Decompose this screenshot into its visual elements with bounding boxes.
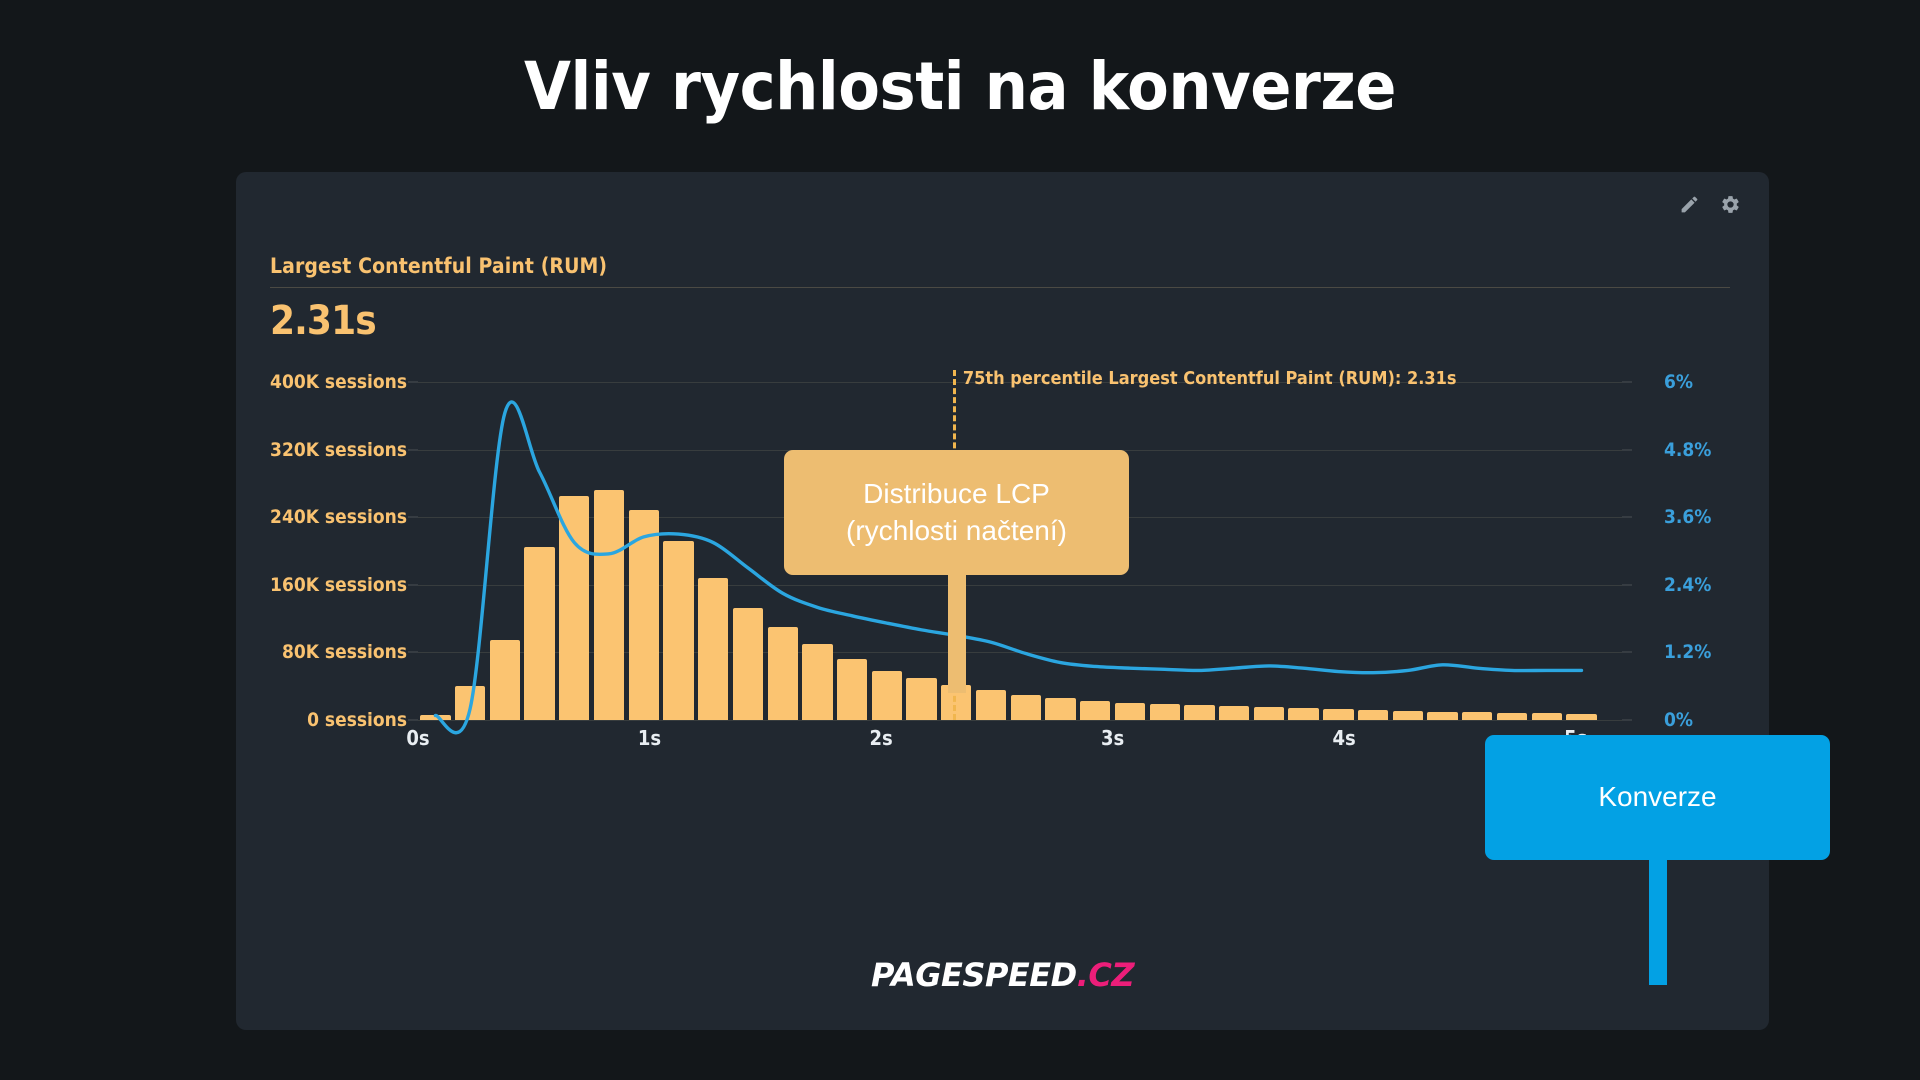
settings-gear-icon[interactable] (1720, 194, 1741, 215)
y-tick-mark-right (1622, 652, 1632, 653)
callout-konverze-box: Konverze (1485, 735, 1830, 860)
y-tick-label-left: 240K sessions (270, 506, 407, 528)
metric-card: Largest Contentful Paint (RUM) 2.31s 0 s… (236, 172, 1769, 1030)
gridline (418, 720, 1622, 721)
y-tick-mark-left (408, 517, 418, 518)
page-title: Vliv rychlosti na konverze (77, 48, 1843, 125)
callout-distribuce-lcp[interactable]: Distribuce LCP (rychlosti načtení) (784, 450, 1129, 575)
callout-konverze[interactable]: Konverze (1485, 735, 1830, 860)
screenshot-root: Vliv rychlosti na konverze Largest Conte… (0, 0, 1920, 1080)
y-tick-label-right: 6% (1664, 371, 1693, 393)
y-tick-label-left: 0 sessions (307, 709, 407, 731)
y-tick-mark-right (1622, 584, 1632, 585)
card-toolbar (1679, 194, 1741, 215)
callout-distribuce-lcp-box: Distribuce LCP (rychlosti načtení) (784, 450, 1129, 575)
y-tick-mark-left (408, 584, 418, 585)
callout-konverze-label: Konverze (1598, 779, 1716, 815)
logo-part-pagespeed: PAGESPEED (871, 956, 1077, 994)
y-tick-mark-left (408, 720, 418, 721)
metric-label: Largest Contentful Paint (RUM) (270, 254, 1730, 278)
pagespeed-logo: PAGESPEED.CZ (236, 956, 1769, 994)
callout-lcp-line1: Distribuce LCP (846, 476, 1067, 512)
y-tick-mark-left (408, 449, 418, 450)
y-tick-label-right: 4.8% (1664, 439, 1711, 461)
metric-value: 2.31s (270, 298, 1584, 344)
x-tick-label: 1s (638, 726, 661, 750)
y-tick-mark-right (1622, 449, 1632, 450)
x-tick-label: 2s (869, 726, 892, 750)
edit-pencil-icon[interactable] (1679, 194, 1700, 215)
y-tick-mark-right (1622, 382, 1632, 383)
metric-divider (270, 287, 1730, 288)
metric-header: Largest Contentful Paint (RUM) 2.31s (270, 254, 1730, 344)
y-tick-mark-right (1622, 517, 1632, 518)
y-tick-label-left: 320K sessions (270, 439, 407, 461)
y-tick-mark-left (408, 652, 418, 653)
x-tick-label: 4s (1333, 726, 1356, 750)
y-tick-mark-left (408, 382, 418, 383)
x-tick-label: 0s (406, 726, 429, 750)
y-tick-label-right: 0% (1664, 709, 1693, 731)
y-tick-label-right: 1.2% (1664, 641, 1711, 663)
y-tick-mark-right (1622, 720, 1632, 721)
callout-lcp-line2: (rychlosti načtení) (846, 513, 1067, 549)
y-tick-label-left: 160K sessions (270, 574, 407, 596)
y-tick-label-right: 2.4% (1664, 574, 1711, 596)
y-tick-label-right: 3.6% (1664, 506, 1711, 528)
y-tick-label-left: 80K sessions (282, 641, 407, 663)
logo-part-cz: .CZ (1077, 956, 1134, 994)
x-tick-label: 3s (1101, 726, 1124, 750)
y-tick-label-left: 400K sessions (270, 371, 407, 393)
percentile-marker-label: 75th percentile Largest Contentful Paint… (963, 368, 1457, 389)
callout-lcp-stem (948, 575, 966, 693)
